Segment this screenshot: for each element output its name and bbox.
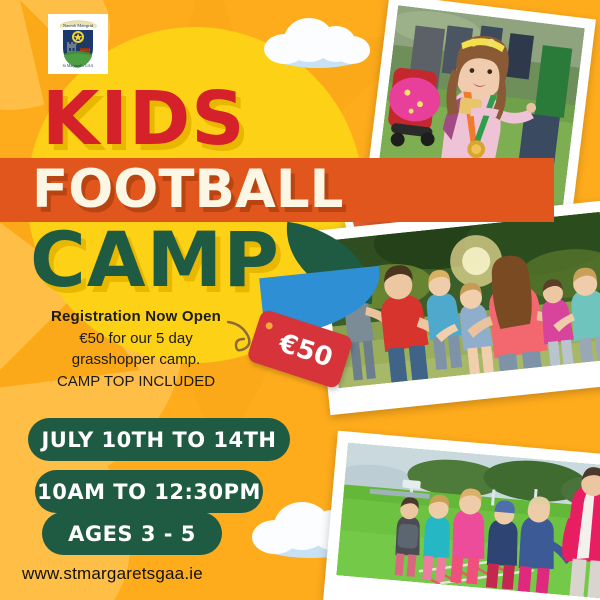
svg-text:Naomh Mairgrid: Naomh Mairgrid [63,23,94,28]
detail-pill-dates: JULY 10TH TO 14TH [28,418,290,461]
headline-football: FOOTBALL [32,163,343,216]
registration-line-2: grasshopper camp. [18,349,254,370]
website-url[interactable]: www.stmargaretsgaa.ie [22,564,203,584]
gaa-crest-icon: Naomh Mairgrid St Margaret's GAA [52,18,104,70]
registration-line-1: €50 for our 5 day [18,328,254,349]
registration-block: Registration Now Open €50 for our 5 day … [18,308,254,392]
detail-pill-ages: AGES 3 - 5 [42,512,222,555]
club-logo: Naomh Mairgrid St Margaret's GAA [48,14,108,74]
svg-text:St Margaret's GAA: St Margaret's GAA [63,63,94,68]
registration-line-3: CAMP TOP INCLUDED [18,371,254,392]
photo-ladder-drill-image [336,443,600,599]
poster-canvas: Naomh Mairgrid St Margaret's GAA KIDS FO… [0,0,600,600]
photo-ladder-drill [323,431,600,600]
headline-kids: KIDS [42,82,246,156]
headline-camp: CAMP [30,222,280,298]
registration-headline: Registration Now Open [18,308,254,325]
detail-pill-times: 10AM TO 12:30PM [35,470,263,513]
cloud-top [264,14,372,70]
